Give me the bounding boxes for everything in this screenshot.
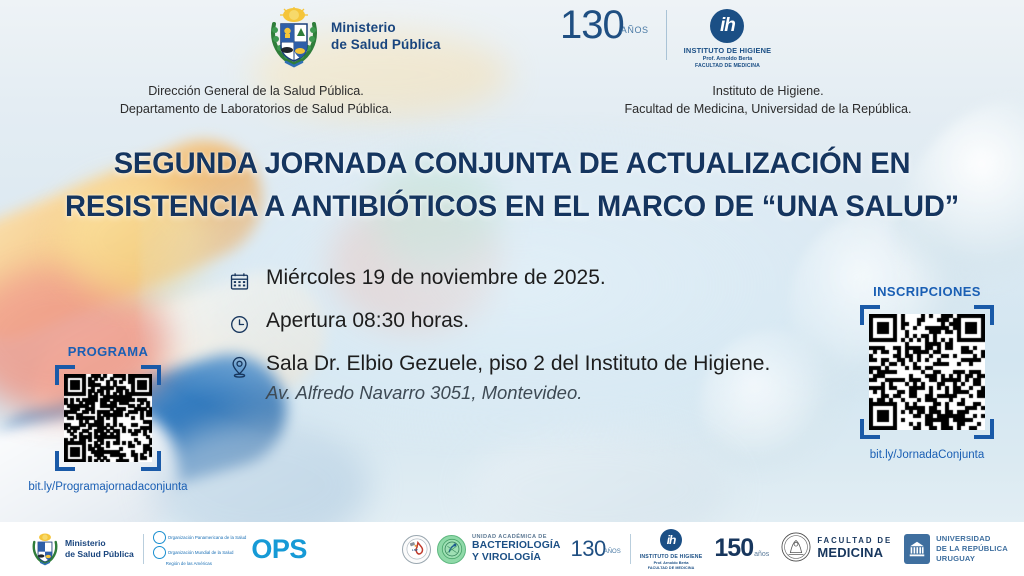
footer-ih-sub2: FACULTAD DE MEDICINA (640, 566, 703, 570)
poster-footer: Ministerio de Salud Pública Organización… (0, 522, 1024, 576)
uruguay-coat-of-arms-icon (30, 532, 60, 566)
udelar-building-icon (907, 538, 927, 560)
bacteriologia-wordmark: UNIDAD ACADÉMICA DE BACTERIOLOGÍA Y VIRO… (472, 534, 560, 564)
ih-sub1: Prof. Arnoldo Berta (684, 56, 772, 62)
qr-block-programa[interactable]: PROGRAMA bit.ly/Programajornadaconjunta (8, 344, 208, 493)
qr-programa-frame[interactable] (55, 365, 161, 471)
qr-corner-bottom-right (974, 419, 994, 439)
lsp-lab-logo-icon: LSP (402, 535, 431, 564)
qr-corner-bottom-right (141, 451, 161, 471)
ih-name: INSTITUTO DE HIGIENE (684, 46, 772, 55)
anniversary-number: 130 (560, 8, 624, 42)
footer-ih-name: INSTITUTO DE HIGIENE (640, 554, 703, 560)
event-details: Miércoles 19 de noviembre de 2025. Apert… (228, 266, 868, 418)
header-left-line1: Dirección General de la Salud Pública. (0, 82, 512, 100)
bacteriologia-line1: BACTERIOLOGÍA (472, 540, 560, 552)
qr-inscripciones-label: INSCRIPCIONES (838, 284, 1016, 299)
poster-header: Ministerio de Salud Pública 130 AÑOS ih … (0, 0, 1024, 120)
anniv150-word: años (754, 551, 769, 558)
detail-time-text: Apertura 08:30 horas. (266, 309, 469, 332)
footer-msp-logo: Ministerio de Salud Pública (30, 532, 134, 566)
header-subtitles: Dirección General de la Salud Pública. D… (0, 82, 1024, 119)
footer-msp-line1: Ministerio (65, 538, 134, 549)
anniversary-130: 130 AÑOS (560, 8, 649, 42)
qr-corner-bottom-left (860, 419, 880, 439)
udelar-line3: URUGUAY (936, 554, 1008, 564)
detail-row-time: Apertura 08:30 horas. (228, 309, 868, 337)
detail-row-location: Sala Dr. Elbio Gezuele, piso 2 del Insti… (228, 352, 868, 403)
location-pin-icon (228, 352, 250, 380)
svg-text:LSP: LSP (412, 548, 418, 552)
header-right-column: Instituto de Higiene. Facultad de Medici… (512, 82, 1024, 119)
udelar-wordmark: UNIVERSIDAD DE LA REPÚBLICA URUGUAY (936, 534, 1008, 565)
facultad-medicina-wordmark: FACULTAD DE MEDICINA (817, 537, 892, 561)
uruguay-coat-of-arms-icon (266, 6, 322, 68)
ih-monogram-icon: ih (660, 529, 682, 551)
anniv150-number: 150 (714, 538, 753, 559)
instituto-higiene-logo: 130 AÑOS ih INSTITUTO DE HIGIENE Prof. A… (560, 8, 771, 69)
header-left-column: Dirección General de la Salud Pública. D… (0, 82, 512, 119)
footer-anniversary-150: 150 años (714, 538, 769, 559)
detail-location-text: Sala Dr. Elbio Gezuele, piso 2 del Insti… (266, 352, 770, 375)
qr-programa-code[interactable] (64, 374, 152, 462)
bacteriologia-line2: Y VIROLOGÍA (472, 552, 560, 564)
detail-address-text: Av. Alfredo Navarro 3051, Montevideo. (266, 382, 770, 403)
who-paho-wordmark: Organización Panamericana de la Salud Or… (153, 531, 247, 566)
calendar-icon (228, 266, 250, 294)
ih-monogram-text: ih (710, 9, 744, 43)
ministerio-salud-publica-logo: Ministerio de Salud Pública (266, 6, 441, 68)
event-poster: Ministerio de Salud Pública 130 AÑOS ih … (0, 0, 1024, 576)
footer-anniversary-130: 130 AÑOS (570, 540, 620, 559)
udelar-line2: DE LA REPÚBLICA (936, 544, 1008, 554)
who-text: Organización Mundial de la Salud (168, 550, 234, 555)
clock-icon (228, 309, 250, 337)
footer-divider (630, 534, 631, 564)
qr-corner-top-left (55, 365, 75, 385)
qr-inscripciones-code[interactable] (869, 314, 985, 430)
qr-block-inscripciones[interactable]: INSCRIPCIONES bit.ly/JornadaConjunta (838, 284, 1016, 461)
anniv130-number: 130 (570, 540, 605, 559)
footer-msp-text: Ministerio de Salud Pública (65, 538, 134, 559)
title-line-2: RESISTENCIA A ANTIBIÓTICOS EN EL MARCO D… (15, 186, 1008, 229)
facultad-medicina-seal-icon (781, 532, 811, 567)
header-right-line2: Facultad de Medicina, Universidad de la … (512, 100, 1024, 118)
qr-inscripciones-url[interactable]: bit.ly/JornadaConjunta (838, 449, 1016, 461)
who-region-text: Región de las Américas (153, 561, 247, 566)
detail-date-text: Miércoles 19 de noviembre de 2025. (266, 266, 606, 289)
footer-ops-logo: Organización Panamericana de la Salud Or… (153, 531, 307, 566)
ops-acronym: OPS (251, 534, 307, 565)
anniversary-word: AÑOS (621, 25, 649, 35)
title-line-1: SEGUNDA JORNADA CONJUNTA DE ACTUALIZACIÓ… (15, 143, 1008, 186)
ministerio-line1: Ministerio (331, 20, 441, 37)
medicina-seal-icon (781, 532, 811, 562)
lab-flask-icon: LSP (406, 538, 428, 560)
qr-programa-url[interactable]: bit.ly/Programajornadaconjunta (8, 481, 208, 493)
qr-corner-top-left (860, 305, 880, 325)
detail-row-date: Miércoles 19 de noviembre de 2025. (228, 266, 868, 294)
ministerio-line2: de Salud Pública (331, 37, 441, 54)
qr-inscripciones-frame[interactable] (860, 305, 994, 439)
footer-msp-line2: de Salud Pública (65, 549, 134, 560)
ih-monogram-icon: ih (710, 9, 744, 43)
paho-icon (153, 531, 166, 544)
qr-corner-top-right (141, 365, 161, 385)
qr-corner-top-right (974, 305, 994, 325)
bacteriologia-virologia-logo-icon (437, 535, 466, 564)
ministerio-logo-text: Ministerio de Salud Pública (331, 20, 441, 53)
ih-sub2: FACULTAD DE MEDICINA (684, 63, 772, 69)
qr-programa-label: PROGRAMA (8, 344, 208, 359)
qr-corner-bottom-left (55, 451, 75, 471)
paho-text: Organización Panamericana de la Salud (168, 535, 247, 540)
who-icon (153, 546, 166, 559)
poster-title: SEGUNDA JORNADA CONJUNTA DE ACTUALIZACIÓ… (15, 143, 1008, 228)
footer-ih-sub1: Prof. Arnoldo Berta (640, 561, 703, 565)
anniv130-word: AÑOS (604, 549, 621, 555)
microbe-icon (441, 538, 463, 560)
medicina-large: MEDICINA (817, 546, 892, 561)
header-left-line2: Departamento de Laboratorios de Salud Pú… (0, 100, 512, 118)
udelar-shield-icon (904, 534, 930, 564)
footer-instituto-higiene-logo: ih INSTITUTO DE HIGIENE Prof. Arnoldo Be… (640, 528, 703, 570)
header-right-line1: Instituto de Higiene. (512, 82, 1024, 100)
ih-monogram-text: ih (660, 529, 682, 551)
logo-divider (666, 10, 667, 60)
udelar-line1: UNIVERSIDAD (936, 534, 1008, 544)
footer-divider (143, 534, 144, 564)
